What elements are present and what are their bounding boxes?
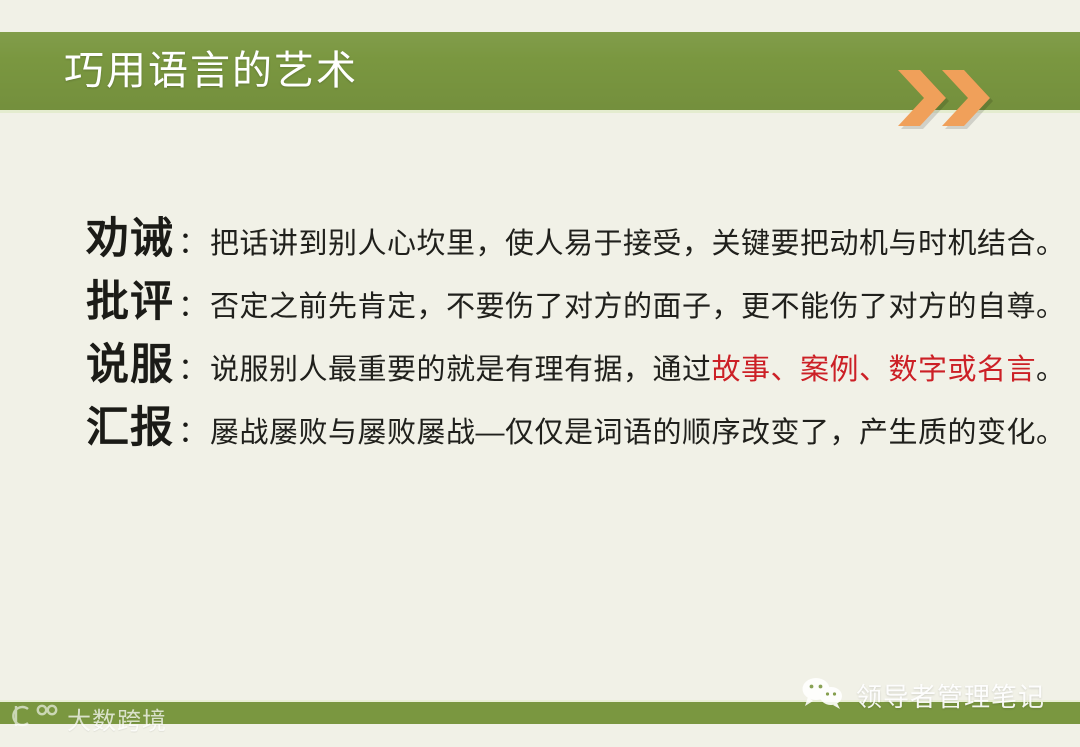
line-text: 说服别人最重要的就是有理有据，通过 — [210, 344, 712, 396]
content-line: 劝诫 ： 把话讲到别人心坎里，使人易于接受，关键要把动机与时机结合。 — [86, 213, 1016, 270]
double-chevron-right-icon — [898, 70, 1002, 132]
content-line: 汇报 ： 屡战屡败与屡败屡战—仅仅是词语的顺序改变了，产生质的变化。 — [86, 402, 1016, 459]
line-colon: ： — [174, 344, 210, 396]
line-text: 屡战屡败与屡败屡战—仅仅是词语的顺序改变了，产生质的变化。 — [210, 407, 1066, 459]
wechat-account-name: 领导者管理笔记 — [856, 677, 1045, 714]
line-text-tail: 。 — [1036, 344, 1066, 396]
site-watermark-text: 大数跨境 — [67, 701, 167, 736]
line-text: 否定之前先肯定，不要伤了对方的面子，更不能伤了对方的自尊。 — [210, 281, 1066, 333]
slide-canvas: 巧用语言的艺术 劝诫 ： 把话讲到别人心坎里，使人易于接受，关键要把动机与时机结… — [0, 0, 1080, 747]
wechat-logo-icon — [800, 676, 846, 715]
dashu-kuajing-logo-icon — [10, 700, 60, 737]
line-colon: ： — [174, 281, 210, 333]
page-title: 巧用语言的艺术 — [64, 43, 358, 99]
line-text: 把话讲到别人心坎里，使人易于接受，关键要把动机与时机结合。 — [210, 218, 1066, 270]
line-colon: ： — [174, 407, 210, 459]
body-content: 劝诫 ： 把话讲到别人心坎里，使人易于接受，关键要把动机与时机结合。 批评 ： … — [86, 213, 1016, 465]
line-label: 批评 — [86, 276, 174, 328]
line-colon: ： — [174, 218, 210, 270]
site-watermark: 大数跨境 — [10, 700, 167, 737]
line-label: 劝诫 — [86, 213, 174, 265]
content-line: 批评 ： 否定之前先肯定，不要伤了对方的面子，更不能伤了对方的自尊。 — [86, 276, 1016, 333]
line-label: 汇报 — [86, 402, 174, 454]
line-highlight: 故事、案例、数字或名言 — [712, 344, 1037, 396]
content-line: 说服 ： 说服别人最重要的就是有理有据，通过 故事、案例、数字或名言 。 — [86, 339, 1016, 396]
line-label: 说服 — [86, 339, 174, 391]
wechat-account-watermark: 领导者管理笔记 — [800, 676, 1045, 715]
